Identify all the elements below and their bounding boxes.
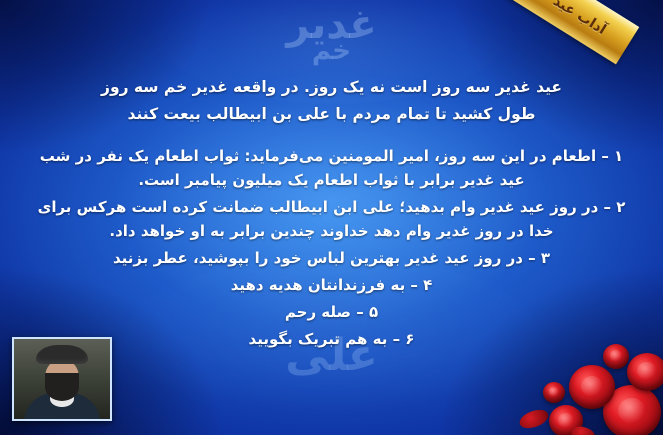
rose-petal [517,406,551,431]
rule-item-5: ۵ – صله رحم [28,300,635,324]
portrait-beard [45,373,79,401]
rule-item-3: ۳ – در روز عید غدیر بهترین لباس خود را ب… [28,246,635,270]
ribbon-label: آداب عید غدیر [519,0,609,38]
rose-icon [627,353,663,391]
corner-ribbon-banner: آداب عید غدیر [489,0,640,64]
rule-item-6: ۶ – به هم تبریک بگویید [28,327,635,351]
rose-icon [569,365,615,409]
rose-icon [549,405,583,435]
headline-text: عید غدیر سه روز است نه یک روز. در واقعه … [28,74,635,128]
rule-item-4: ۴ – به فرزندانتان هدیه دهید [28,273,635,297]
poster-canvas: غدیر خم علی عید غدیر سه روز است نه یک رو… [0,0,663,435]
watermark-text-khom: خم [0,36,663,66]
rules-list: ۱ – اطعام در این سه روز، امیر المومنین م… [28,144,635,351]
rose-icon [603,385,661,435]
rule-item-2: ۲ – در روز عید غدیر وام بدهید؛ علی ابن ا… [28,195,635,243]
cleric-portrait-photo [12,337,112,421]
rose-petal [570,424,597,435]
rose-icon [543,382,565,403]
rule-item-1: ۱ – اطعام در این سه روز، امیر المومنین م… [28,144,635,192]
portrait-turban [36,345,88,364]
text-content-block: عید غدیر سه روز است نه یک روز. در واقعه … [0,74,663,354]
